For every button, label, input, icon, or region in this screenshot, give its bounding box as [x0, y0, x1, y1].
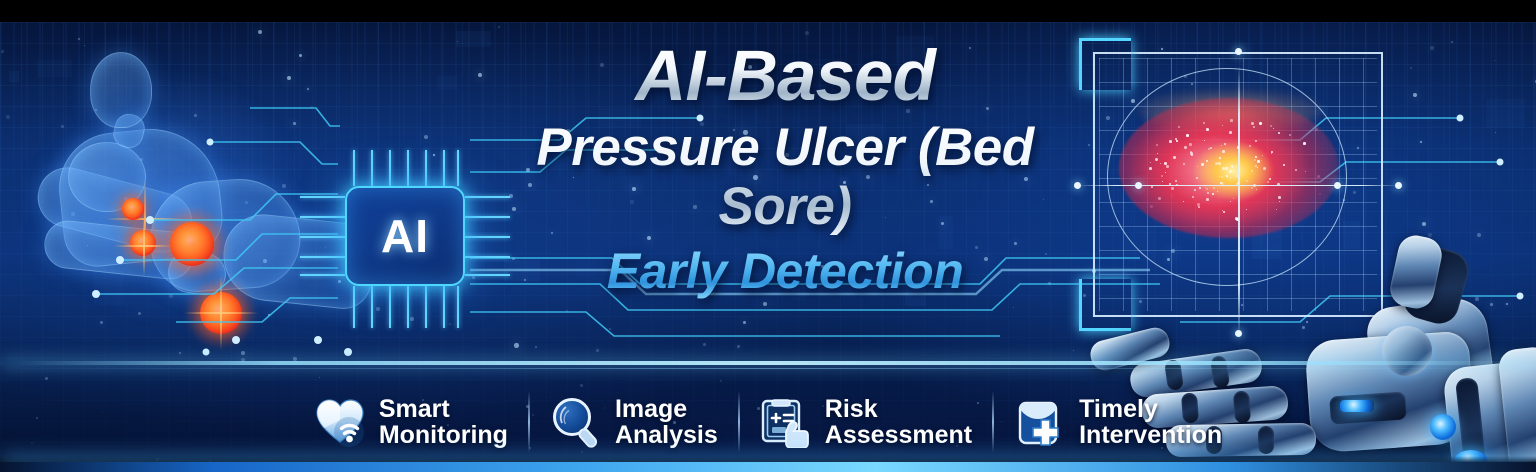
headline-block: AI-Based Pressure Ulcer (Bed Sore) Early… [470, 42, 1100, 299]
scanner-node-right [1395, 182, 1402, 189]
headline-line-2: Pressure Ulcer (Bed Sore) [470, 118, 1100, 237]
feature-image-analysis[interactable]: Image Analysis [530, 386, 738, 458]
bottom-glow-bar [0, 462, 1536, 472]
top-letterbox-bar [0, 0, 1536, 22]
clipboard-hand-icon [760, 396, 812, 448]
feature-smart-monitoring[interactable]: Smart Monitoring [294, 386, 528, 458]
chip-pins-bottom [345, 286, 465, 328]
ai-chip-icon: AI [345, 186, 465, 286]
feature-timely-intervention[interactable]: Timely Intervention [994, 386, 1242, 458]
headline-line-3: Early Detection [470, 244, 1100, 299]
banner-root: AI AI-Based Pressure Ulcer (Bed Sore) Ea… [0, 0, 1536, 472]
section-divider-glow-secondary [0, 368, 1536, 369]
chip-pins-left [300, 186, 345, 286]
pressure-ulcer-wound-image [1119, 98, 1339, 238]
scanner-node-right-inner [1334, 182, 1341, 189]
scanner-node-top [1235, 48, 1242, 55]
feature-label-timely-intervention: Timely Intervention [1079, 396, 1222, 449]
headline-line-1: AI-Based [470, 42, 1100, 112]
magnifier-icon [550, 396, 602, 448]
medical-bag-cross-icon [1014, 396, 1066, 448]
chip-pins-top [345, 150, 465, 186]
feature-label-image-analysis: Image Analysis [615, 396, 718, 449]
section-divider-glow [0, 361, 1536, 365]
feature-risk-assessment[interactable]: Risk Assessment [740, 386, 992, 458]
heart-wifi-icon [314, 396, 366, 448]
feature-label-smart-monitoring: Smart Monitoring [379, 396, 508, 449]
scanner-node-left-inner [1135, 182, 1142, 189]
feature-label-risk-assessment: Risk Assessment [825, 396, 972, 449]
ai-chip-label: AI [381, 213, 429, 259]
